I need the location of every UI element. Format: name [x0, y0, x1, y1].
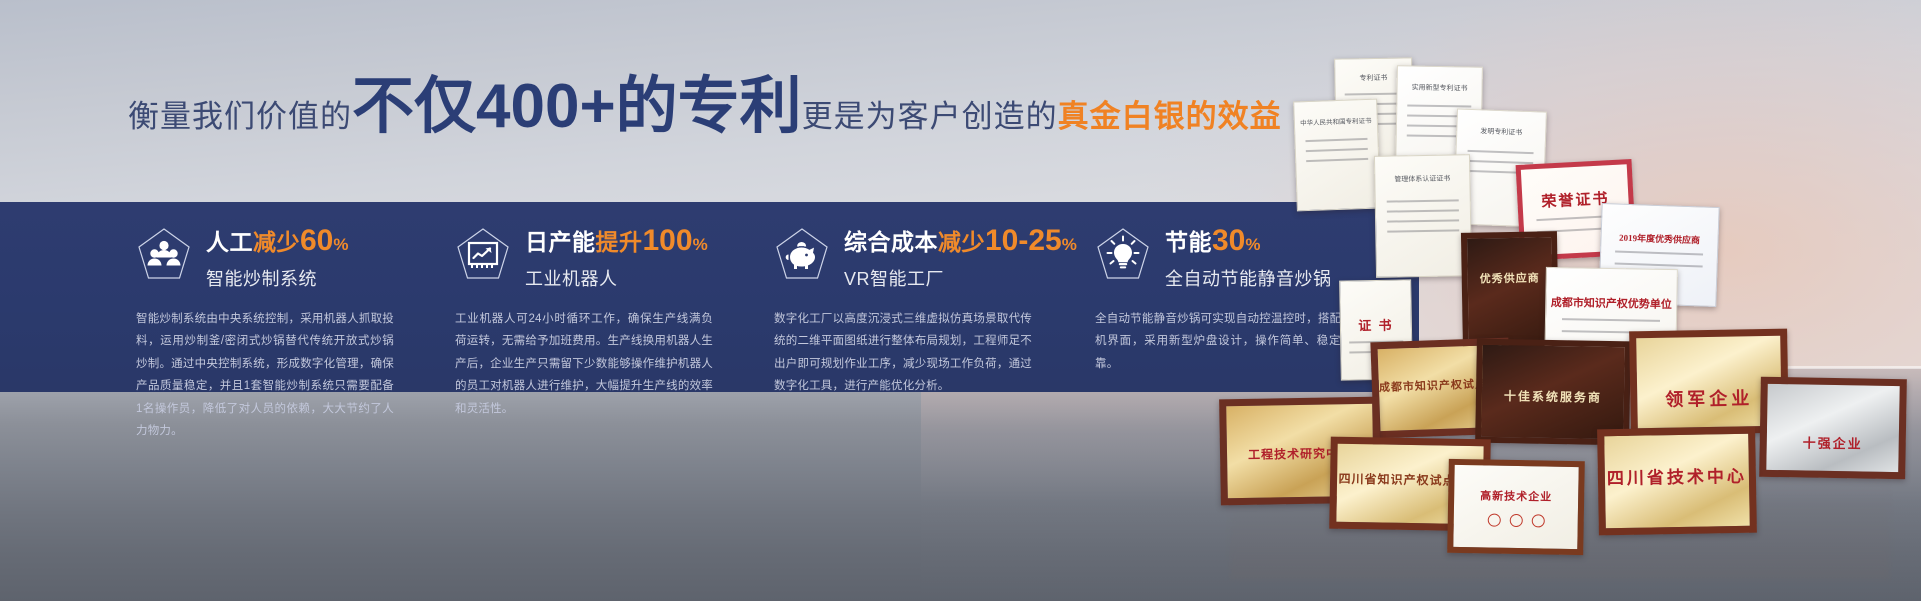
headline-emphasis: 不仅400+的专利	[352, 72, 802, 141]
feature-description: 工业机器人可24小时循环工作，确保生产线满负荷运转，无需给予加班费用。生产线换用…	[455, 308, 713, 420]
certificate-plate-sub	[1468, 315, 1552, 316]
certificate-item: 中华人民共和国专利证书	[1293, 99, 1381, 212]
certificate-label: 高新技术企业	[1454, 487, 1578, 505]
piggy-bank-icon	[774, 226, 830, 282]
feature-title-number: 60	[300, 224, 333, 257]
feature-title-label: 日产能	[525, 229, 596, 255]
feature-title-number: 10-25	[985, 224, 1062, 257]
feature-subtitle: VR智能工厂	[844, 265, 1077, 291]
headline-middle: 更是为客户创造的	[802, 99, 1058, 134]
feature-title-number: 100	[643, 224, 693, 257]
feature-text-block: 人工减少60% 智能炒制系统	[206, 224, 349, 291]
feature-title-label: 综合成本	[844, 229, 938, 255]
headline-lead: 衡量我们价值的	[128, 99, 352, 134]
feature-header: 日产能提升100% 工业机器人	[455, 224, 779, 286]
feature-title: 日产能提升100%	[525, 226, 708, 256]
certificate-label: 2019年度优秀供应商	[1601, 230, 1717, 247]
feature-title-label: 人工	[206, 229, 253, 255]
certificate-label: 四川省技术中心	[1605, 462, 1749, 490]
people-group-icon	[136, 226, 192, 282]
feature-title-unit: %	[1062, 235, 1077, 254]
certificate-label: 成都市知识产权优势单位	[1546, 294, 1676, 312]
light-bulb-icon	[1095, 226, 1151, 282]
certificate-item: 四川省技术中心	[1597, 427, 1757, 536]
certificate-wall: 专利证书 实用新型专利证书 中华人民共和国专利证书 发明专利证书 管理体系认证证…	[1200, 40, 1921, 510]
feature-description: 智能炒制系统由中央系统控制，采用机器人抓取投料，运用炒制釜/密闭式炒锅替代传统开…	[136, 308, 394, 443]
feature-header: 人工减少60% 智能炒制系统	[136, 224, 460, 286]
certificate-label: 优秀供应商	[1468, 269, 1552, 286]
feature-subtitle: 工业机器人	[525, 265, 708, 291]
feature-item-capacity: 日产能提升100% 工业机器人 工业机器人可24小时循环工作，确保生产线满负荷运…	[455, 202, 779, 392]
feature-title-action: 提升	[596, 229, 643, 255]
certificate-label: 证 书	[1341, 314, 1411, 334]
feature-item-cost: 综合成本减少10-25% VR智能工厂 数字化工厂以高度沉浸式三维虚拟仿真场景取…	[774, 202, 1098, 392]
page-headline: 衡量我们价值的不仅400+的专利更是为客户创造的真金白银的效益	[128, 76, 1282, 138]
certificate-item: 管理体系认证证书	[1374, 154, 1472, 278]
feature-item-labor: 人工减少60% 智能炒制系统 智能炒制系统由中央系统控制，采用机器人抓取投料，运…	[136, 202, 460, 392]
feature-title-unit: %	[693, 235, 708, 254]
feature-subtitle: 智能炒制系统	[206, 265, 349, 291]
feature-text-block: 日产能提升100% 工业机器人	[525, 224, 708, 291]
feature-title-action: 减少	[938, 229, 985, 255]
certificate-label: 中华人民共和国专利证书	[1295, 115, 1377, 128]
feature-title: 人工减少60%	[206, 226, 349, 256]
certificate-item: 高新技术企业	[1447, 459, 1585, 555]
feature-title: 综合成本减少10-25%	[844, 226, 1077, 256]
certificate-label: 十强企业	[1767, 432, 1899, 453]
certificate-label: 实用新型专利证书	[1398, 82, 1482, 93]
feature-description: 数字化工厂以高度沉浸式三维虚拟仿真场景取代传统的二维平面图纸进行整体布局规划，工…	[774, 308, 1032, 398]
feature-title-action: 减少	[253, 229, 300, 255]
feature-title-unit: %	[333, 235, 348, 254]
chart-growth-icon	[455, 226, 511, 282]
certificate-label: 发明专利证书	[1457, 125, 1545, 138]
certificate-label: 十佳系统服务商	[1482, 387, 1624, 406]
certificate-label: 管理体系认证证书	[1375, 173, 1469, 185]
feature-header: 综合成本减少10-25% VR智能工厂	[774, 224, 1098, 286]
feature-text-block: 综合成本减少10-25% VR智能工厂	[844, 224, 1077, 291]
certificate-item: 十强企业	[1759, 377, 1907, 480]
